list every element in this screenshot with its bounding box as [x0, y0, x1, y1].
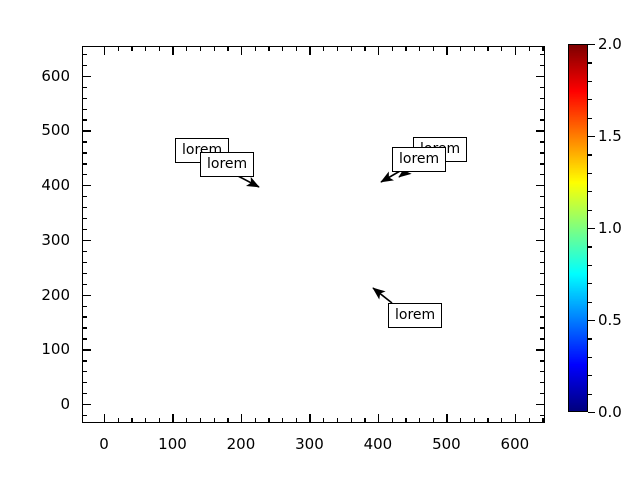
y-tick-label: 100 [0, 340, 70, 358]
x-minor-tick-top [501, 46, 502, 51]
colorbar-major-tick [588, 320, 595, 321]
y-major-tick-right [536, 404, 545, 405]
y-major-tick [82, 185, 91, 186]
y-minor-tick [82, 284, 87, 285]
y-minor-tick-right [540, 174, 545, 175]
y-minor-tick [82, 371, 87, 372]
x-minor-tick [392, 418, 393, 423]
y-minor-tick [82, 98, 87, 99]
y-minor-tick [82, 316, 87, 317]
x-tick-label: 400 [364, 435, 393, 453]
colorbar-major-tick [588, 412, 595, 413]
y-tick-label: 600 [0, 67, 70, 85]
x-major-tick [104, 414, 105, 423]
y-major-tick-right [536, 185, 545, 186]
x-minor-tick-top [337, 46, 338, 51]
x-minor-tick-top [392, 46, 393, 51]
y-tick-label: 300 [0, 231, 70, 249]
x-minor-tick [501, 418, 502, 423]
colorbar-minor-tick [588, 375, 592, 376]
x-minor-tick [186, 418, 187, 423]
x-minor-tick-top [186, 46, 187, 51]
colorbar-minor-tick [588, 118, 592, 119]
x-minor-tick [255, 418, 256, 423]
annotation-label-box[interactable]: lorem [392, 147, 446, 172]
x-minor-tick-top [159, 46, 160, 51]
colorbar-major-tick [588, 44, 595, 45]
y-minor-tick-right [540, 119, 545, 120]
y-minor-tick [82, 360, 87, 361]
colorbar-minor-tick [588, 173, 592, 174]
y-minor-tick-right [540, 273, 545, 274]
x-minor-tick [364, 418, 365, 423]
y-major-tick [82, 349, 91, 350]
colorbar-tick-label: 1.5 [598, 127, 622, 145]
x-minor-tick [419, 418, 420, 423]
x-tick-label: 500 [432, 435, 461, 453]
x-major-tick [446, 414, 447, 423]
y-minor-tick-right [540, 109, 545, 110]
x-major-tick-top [446, 46, 447, 55]
x-major-tick [378, 414, 379, 423]
x-major-tick [172, 414, 173, 423]
x-minor-tick-top [296, 46, 297, 51]
x-major-tick-top [378, 46, 379, 55]
y-minor-tick [82, 393, 87, 394]
y-minor-tick-right [540, 65, 545, 66]
x-minor-tick-top [460, 46, 461, 51]
x-minor-tick-top [282, 46, 283, 51]
y-minor-tick [82, 327, 87, 328]
x-minor-tick-top [323, 46, 324, 51]
y-minor-tick-right [540, 371, 545, 372]
y-minor-tick [82, 207, 87, 208]
plot-axes-frame [82, 46, 545, 423]
x-minor-tick-top [419, 46, 420, 51]
y-major-tick [82, 130, 91, 131]
y-major-tick [82, 404, 91, 405]
x-minor-tick [118, 418, 119, 423]
y-minor-tick-right [540, 262, 545, 263]
y-minor-tick-right [540, 327, 545, 328]
x-minor-tick-top [364, 46, 365, 51]
y-minor-tick [82, 174, 87, 175]
x-minor-tick-top [487, 46, 488, 51]
x-major-tick [515, 414, 516, 423]
annotation-label-box[interactable]: lorem [388, 303, 442, 328]
y-minor-tick-right [540, 152, 545, 153]
y-minor-tick-right [540, 141, 545, 142]
x-minor-tick [405, 418, 406, 423]
colorbar-minor-tick [588, 191, 592, 192]
y-tick-label: 500 [0, 121, 70, 139]
y-tick-label: 400 [0, 176, 70, 194]
colorbar-tick-label: 0.0 [598, 403, 622, 421]
y-minor-tick [82, 141, 87, 142]
x-major-tick-top [241, 46, 242, 55]
x-major-tick-top [104, 46, 105, 55]
x-minor-tick [145, 418, 146, 423]
colorbar-minor-tick [588, 81, 592, 82]
x-minor-tick-top [529, 46, 530, 51]
y-tick-label: 200 [0, 286, 70, 304]
figure-canvas: 01002003004005006000100200300400500600 0… [0, 0, 640, 480]
x-major-tick-top [515, 46, 516, 55]
y-minor-tick [82, 415, 87, 416]
y-minor-tick [82, 87, 87, 88]
colorbar-minor-tick [588, 357, 592, 358]
x-minor-tick [227, 418, 228, 423]
x-minor-tick [337, 418, 338, 423]
annotation-label-box[interactable]: lorem [200, 152, 254, 177]
x-tick-label: 300 [295, 435, 324, 453]
x-minor-tick [460, 418, 461, 423]
x-major-tick [309, 414, 310, 423]
x-minor-tick-top [227, 46, 228, 51]
y-minor-tick [82, 65, 87, 66]
x-minor-tick [351, 418, 352, 423]
colorbar-minor-tick [588, 154, 592, 155]
x-minor-tick-top [145, 46, 146, 51]
colorbar-minor-tick [588, 62, 592, 63]
y-minor-tick [82, 196, 87, 197]
x-minor-tick-top [214, 46, 215, 51]
y-minor-tick-right [540, 196, 545, 197]
colorbar-minor-tick [588, 338, 592, 339]
x-minor-tick [131, 418, 132, 423]
y-minor-tick-right [540, 54, 545, 55]
y-minor-tick [82, 273, 87, 274]
x-minor-tick [323, 418, 324, 423]
x-minor-tick [296, 418, 297, 423]
colorbar-minor-tick [588, 99, 592, 100]
x-tick-label: 0 [99, 435, 109, 453]
y-minor-tick [82, 338, 87, 339]
colorbar-major-tick [588, 228, 595, 229]
colorbar-tick-label: 2.0 [598, 35, 622, 53]
y-major-tick-right [536, 295, 545, 296]
y-minor-tick-right [540, 163, 545, 164]
colorbar-minor-tick [588, 246, 592, 247]
y-minor-tick-right [540, 98, 545, 99]
y-minor-tick-right [540, 360, 545, 361]
x-minor-tick [282, 418, 283, 423]
x-major-tick [241, 414, 242, 423]
colorbar-minor-tick [588, 302, 592, 303]
x-minor-tick-top [433, 46, 434, 51]
x-minor-tick [529, 418, 530, 423]
colorbar-minor-tick [588, 394, 592, 395]
y-minor-tick [82, 163, 87, 164]
colorbar-tick-label: 0.5 [598, 311, 622, 329]
y-minor-tick [82, 109, 87, 110]
y-major-tick [82, 76, 91, 77]
y-major-tick-right [536, 240, 545, 241]
y-major-tick-right [536, 349, 545, 350]
y-minor-tick-right [540, 338, 545, 339]
colorbar-minor-tick [588, 283, 592, 284]
x-minor-tick [474, 418, 475, 423]
y-minor-tick [82, 262, 87, 263]
y-minor-tick-right [540, 284, 545, 285]
y-major-tick [82, 295, 91, 296]
y-major-tick-right [536, 130, 545, 131]
colorbar-minor-tick [588, 265, 592, 266]
y-major-tick-right [536, 76, 545, 77]
y-minor-tick-right [540, 393, 545, 394]
x-minor-tick [433, 418, 434, 423]
x-major-tick-top [172, 46, 173, 55]
x-tick-label: 600 [501, 435, 530, 453]
y-minor-tick-right [540, 316, 545, 317]
y-minor-tick-right [540, 251, 545, 252]
y-minor-tick [82, 54, 87, 55]
x-tick-label: 200 [227, 435, 256, 453]
x-minor-tick [159, 418, 160, 423]
x-minor-tick-top [118, 46, 119, 51]
x-minor-tick [542, 418, 543, 423]
y-minor-tick [82, 306, 87, 307]
y-minor-tick [82, 119, 87, 120]
colorbar [568, 44, 588, 412]
x-minor-tick-top [200, 46, 201, 51]
x-minor-tick [214, 418, 215, 423]
x-minor-tick [268, 418, 269, 423]
x-tick-label: 100 [158, 435, 187, 453]
y-minor-tick-right [540, 415, 545, 416]
x-minor-tick-top [405, 46, 406, 51]
y-minor-tick [82, 251, 87, 252]
y-major-tick [82, 240, 91, 241]
y-minor-tick-right [540, 218, 545, 219]
colorbar-minor-tick [588, 210, 592, 211]
x-minor-tick-top [131, 46, 132, 51]
x-minor-tick [487, 418, 488, 423]
y-minor-tick-right [540, 87, 545, 88]
y-minor-tick-right [540, 229, 545, 230]
x-minor-tick-top [474, 46, 475, 51]
y-tick-label: 0 [0, 395, 70, 413]
colorbar-major-tick [588, 136, 595, 137]
colorbar-tick-label: 1.0 [598, 219, 622, 237]
y-minor-tick [82, 382, 87, 383]
y-minor-tick [82, 152, 87, 153]
y-minor-tick-right [540, 207, 545, 208]
x-major-tick-top [309, 46, 310, 55]
x-minor-tick-top [351, 46, 352, 51]
x-minor-tick [200, 418, 201, 423]
y-minor-tick-right [540, 306, 545, 307]
colorbar-gradient [568, 44, 588, 412]
y-minor-tick-right [540, 382, 545, 383]
x-minor-tick-top [542, 46, 543, 51]
x-minor-tick-top [255, 46, 256, 51]
x-minor-tick-top [268, 46, 269, 51]
y-minor-tick [82, 229, 87, 230]
y-minor-tick [82, 218, 87, 219]
